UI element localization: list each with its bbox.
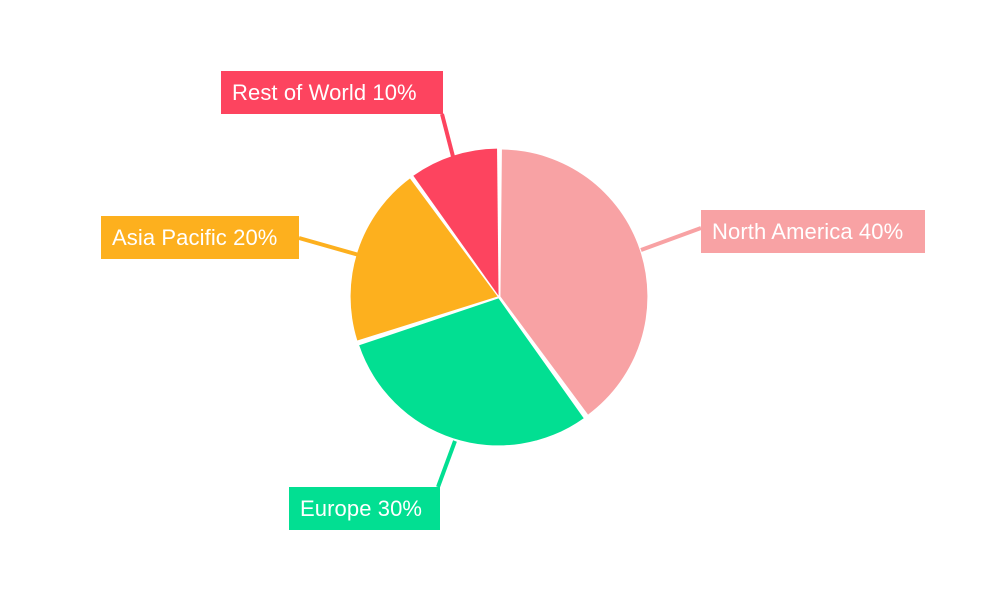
slice-label-north-america[interactable]: North America 40%: [701, 210, 925, 253]
slice-label-north-america-text: North America 40%: [712, 221, 903, 243]
slice-label-rest-of-world-text: Rest of World 10%: [232, 82, 417, 104]
leader-line-asia-pacific: [299, 238, 359, 255]
slice-label-rest-of-world[interactable]: Rest of World 10%: [221, 71, 443, 114]
pie-chart-figure: North America 40% Europe 30% Asia Pacifi…: [0, 0, 1000, 600]
slice-label-asia-pacific[interactable]: Asia Pacific 20%: [101, 216, 299, 259]
slice-label-europe[interactable]: Europe 30%: [289, 487, 440, 530]
pie-slices-group: [351, 149, 648, 446]
leader-line-north-america: [641, 228, 701, 250]
slice-label-europe-text: Europe 30%: [300, 498, 422, 520]
slice-label-asia-pacific-text: Asia Pacific 20%: [112, 227, 277, 249]
leader-line-europe: [438, 441, 455, 487]
pie-chart-canvas: [0, 0, 1000, 600]
